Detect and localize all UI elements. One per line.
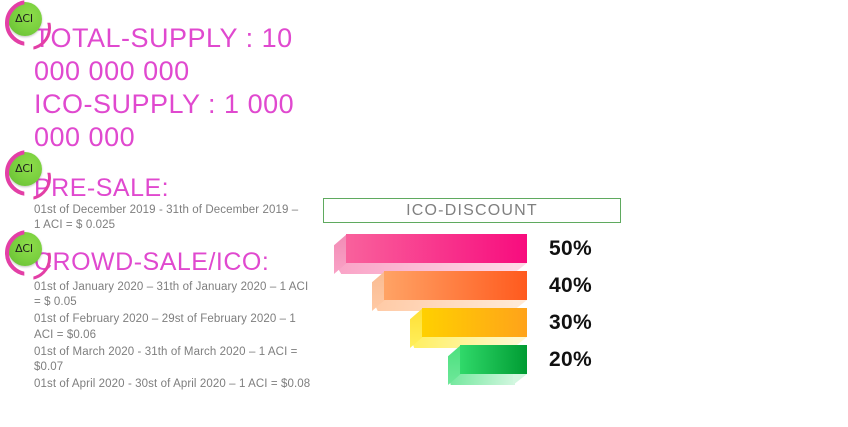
funnel-bar-row: 50%	[320, 234, 848, 274]
funnel-bar	[334, 234, 527, 274]
funnel-bar	[410, 308, 527, 348]
funnel-bar	[448, 345, 527, 385]
crowd-sale-line: 01st of April 2020 - 30st of April 2020 …	[34, 377, 314, 392]
ico-discount-funnel-chart: 50%40%30%20%	[320, 234, 848, 394]
aci-token-badge-icon: ΔCI	[8, 2, 42, 36]
funnel-bar-percentage-label: 40%	[549, 274, 592, 298]
funnel-bar-percentage-label: 50%	[549, 237, 592, 261]
badge-label: ΔCI	[15, 163, 33, 174]
pre-sale-heading: PRE-SALE:	[34, 173, 324, 204]
crowd-sale-line: 01st of January 2020 – 31th of January 2…	[34, 280, 314, 310]
funnel-bar-front-face	[346, 234, 527, 263]
ico-discount-title: ICO-DISCOUNT	[406, 202, 538, 220]
crowd-sale-heading: CROWD-SALE/ICO:	[34, 247, 334, 278]
aci-token-badge-icon: ΔCI	[8, 232, 42, 266]
crowd-sale-line: 01st of February 2020 – 29st of February…	[34, 312, 314, 342]
funnel-bar-front-face	[422, 308, 527, 337]
supply-heading: TOTAL-SUPPLY : 10 000 000 000 ICO-SUPPLY…	[34, 22, 334, 154]
funnel-bar-percentage-label: 30%	[549, 311, 592, 335]
token-details-column: ΔCI TOTAL-SUPPLY : 10 000 000 000 ICO-SU…	[0, 0, 330, 427]
funnel-bar-front-face	[460, 345, 527, 374]
ico-tokenomics-slide: ΔCI TOTAL-SUPPLY : 10 000 000 000 ICO-SU…	[0, 0, 848, 427]
funnel-bar-row: 30%	[320, 308, 848, 348]
funnel-bar-row: 40%	[320, 271, 848, 311]
funnel-bar-percentage-label: 20%	[549, 348, 592, 372]
pre-sale-line: 01st of December 2019 - 31th of December…	[34, 203, 304, 233]
funnel-bar-right-bevel	[513, 374, 527, 385]
pre-sale-details: 01st of December 2019 - 31th of December…	[34, 203, 304, 235]
aci-token-badge-icon: ΔCI	[8, 152, 42, 186]
funnel-bar-front-face	[384, 271, 527, 300]
funnel-bar	[372, 271, 527, 311]
funnel-bar-row: 20%	[320, 345, 848, 385]
badge-label: ΔCI	[15, 13, 33, 24]
crowd-sale-line: 01st of March 2020 - 31th of March 2020 …	[34, 345, 314, 375]
ico-discount-column: ICO-DISCOUNT 50%40%30%20%	[320, 0, 848, 427]
badge-label: ΔCI	[15, 243, 33, 254]
crowd-sale-details: 01st of January 2020 – 31th of January 2…	[34, 280, 314, 394]
ico-discount-title-box: ICO-DISCOUNT	[323, 198, 621, 223]
